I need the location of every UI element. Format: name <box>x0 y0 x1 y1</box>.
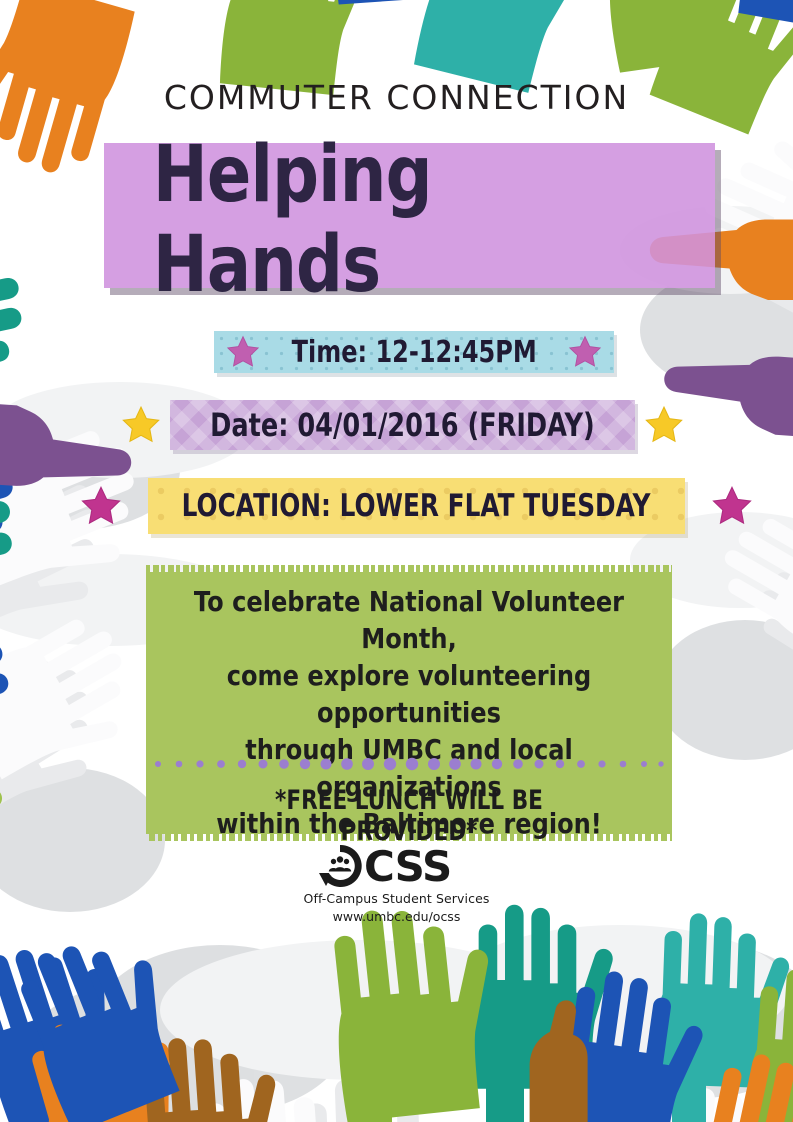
free-lunch-text: *FREE LUNCH WILL BE PROVIDED* <box>203 785 614 847</box>
description-line: come explore volunteering opportunities <box>188 657 630 731</box>
ocss-logo: CSS Off-Campus Student Services www.umbc… <box>0 843 793 924</box>
free-lunch-note: *FREE LUNCH WILL BE PROVIDED* <box>152 785 666 847</box>
date-label: Date: 04/01/2016 (FRIDAY) <box>210 406 595 444</box>
page-title: Helping Hands <box>153 152 666 287</box>
time-label: Time: 12-12:45PM <box>291 335 536 370</box>
location-bar: LOCATION: LOWER FLAT TUESDAY <box>148 478 685 534</box>
ocss-circular-arrow-people-icon: CSS <box>317 843 477 889</box>
logo-subtitle: Off-Campus Student Services <box>0 891 793 906</box>
time-bar: Time: 12-12:45PM <box>214 331 614 373</box>
date-bar: Date: 04/01/2016 (FRIDAY) <box>170 400 635 450</box>
logo-url: www.umbc.edu/ocss <box>0 909 793 924</box>
star-icon <box>225 334 261 370</box>
star-icon <box>710 484 754 528</box>
location-label: LOCATION: LOWER FLAT TUESDAY <box>182 488 651 524</box>
svg-text:CSS: CSS <box>364 843 451 889</box>
star-icon <box>567 334 603 370</box>
dotted-divider <box>152 756 666 772</box>
star-icon <box>79 484 123 528</box>
description-line: To celebrate National Volunteer Month, <box>188 583 630 657</box>
star-icon <box>120 404 162 446</box>
page-kicker: COMMUTER CONNECTION <box>0 78 793 117</box>
star-icon <box>643 404 685 446</box>
poster: COMMUTER CONNECTION Helping Hands Time: … <box>0 0 793 1122</box>
